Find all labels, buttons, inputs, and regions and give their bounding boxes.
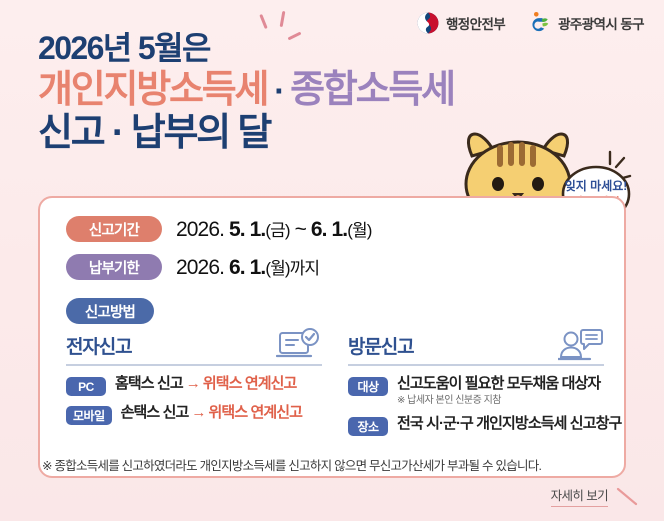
- title-line-2: 개인지방소득세 · 종합소득세: [38, 69, 454, 112]
- logo-mogaha-label: 행정안전부: [446, 13, 505, 33]
- due-prefix: 2026.: [176, 256, 229, 279]
- item-place-body: 전국 시·군·구 개인지방소득세 신고창구: [397, 415, 621, 433]
- item-target-body: 신고도움이 필요한 모두채움 대상자 ※ 납세자 본인 신분증 지참: [397, 375, 600, 407]
- tag-place: 장소: [348, 417, 388, 436]
- period-separator: ~: [290, 218, 311, 241]
- logo-mogaha: 행정안전부: [417, 12, 505, 34]
- sparkle-dash-2: [280, 11, 286, 27]
- footer-notice: ※ 종합소득세를 신고하였더라도 개인지방소득세를 신고하지 않으면 무신고가산…: [42, 455, 541, 474]
- diagonal-arrow-icon: [612, 485, 642, 507]
- row-payment-due: 납부기한 2026. 6. 1.(월)까지: [66, 254, 319, 280]
- arrow-icon-pc: →: [183, 375, 203, 392]
- value-payment-due: 2026. 6. 1.(월)까지: [176, 254, 319, 280]
- item-pc: PC 홈택스 신고→위택스 연계신고: [66, 375, 322, 396]
- row-filing-period: 신고기간 2026. 5. 1.(금) ~ 6. 1.(월): [66, 216, 372, 242]
- value-filing-period: 2026. 5. 1.(금) ~ 6. 1.(월): [176, 216, 372, 242]
- due-date: 6. 1.: [229, 256, 265, 279]
- laptop-check-icon: [276, 328, 322, 367]
- person-speech-icon: [558, 328, 604, 367]
- logo-donggu: 광주광역시 동구: [527, 11, 644, 35]
- item-target-note: ※ 납세자 본인 신분증 지참: [397, 395, 600, 407]
- page-title: 2026년 5월은 개인지방소득세 · 종합소득세 신고 · 납부의 달: [38, 32, 454, 155]
- tag-mobile: 모바일: [66, 406, 112, 425]
- period-start: 5. 1.: [229, 218, 265, 241]
- taegeuk-swirl-icon: [417, 12, 439, 34]
- item-place-text: 전국 시·군·구 개인지방소득세 신고창구: [397, 415, 621, 432]
- column-visit-filing: 방문신고 대상 신고도움이 필요한 모두채움 대상자 ※ 납세: [348, 332, 604, 444]
- due-day: (월): [265, 259, 289, 278]
- title-separator-dot: ·: [267, 72, 290, 109]
- label-payment-due: 납부기한: [66, 254, 162, 280]
- tag-pc: PC: [66, 377, 106, 396]
- period-prefix: 2026.: [176, 218, 229, 241]
- period-start-day: (금): [265, 221, 289, 240]
- title-line-1: 2026년 5월은: [38, 32, 454, 66]
- period-end: 6. 1.: [311, 218, 347, 241]
- item-target-text: 신고도움이 필요한 모두채움 대상자: [397, 375, 600, 392]
- column-electronic-filing: 전자신고 PC 홈택스 신고→위택스 연계신고: [66, 332, 322, 444]
- item-place: 장소 전국 시·군·구 개인지방소득세 신고창구: [348, 415, 604, 436]
- item-target: 대상 신고도움이 필요한 모두채움 대상자 ※ 납세자 본인 신분증 지참: [348, 375, 604, 407]
- item-pc-linked: 위택스 연계신고: [203, 375, 297, 392]
- label-filing-period: 신고기간: [66, 216, 162, 242]
- more-details-label: 자세히 보기: [551, 485, 608, 507]
- method-columns: 전자신고 PC 홈택스 신고→위택스 연계신고: [66, 332, 604, 444]
- title-tax-global: 종합소득세: [290, 69, 454, 111]
- item-mobile-body: 손택스 신고→위택스 연계신고: [121, 404, 302, 422]
- poster-root: 행정안전부 광주광역시 동구 2026년 5월은 개인지방소득세 · 종합소득세…: [0, 0, 664, 521]
- item-mobile-linked: 위택스 연계신고: [209, 404, 303, 421]
- logo-donggu-label: 광주광역시 동구: [558, 13, 644, 33]
- period-end-day: (월): [347, 221, 371, 240]
- due-suffix: 까지: [290, 259, 319, 278]
- bubble-line-1: 잊지 마세요!: [565, 178, 628, 193]
- item-pc-text: 홈택스 신고→위택스 연계신고: [115, 375, 296, 392]
- arrow-icon-mobile: →: [188, 404, 208, 421]
- label-filing-method: 신고방법: [66, 298, 154, 324]
- more-details-link[interactable]: 자세히 보기: [551, 485, 642, 507]
- title-line-3: 신고 · 납부의 달: [38, 112, 454, 155]
- title-tax-local: 개인지방소득세: [38, 69, 267, 111]
- gwangju-donggu-g-icon: [527, 11, 551, 35]
- info-card: 신고기간 2026. 5. 1.(금) ~ 6. 1.(월) 납부기한 2026…: [38, 196, 626, 478]
- item-pc-source: 홈택스 신고: [115, 375, 183, 392]
- item-mobile-source: 손택스 신고: [121, 404, 189, 421]
- sparkle-dash-1: [259, 14, 267, 29]
- item-mobile: 모바일 손택스 신고→위택스 연계신고: [66, 404, 322, 425]
- item-mobile-text: 손택스 신고→위택스 연계신고: [121, 404, 302, 421]
- tag-target: 대상: [348, 377, 388, 396]
- item-pc-body: 홈택스 신고→위택스 연계신고: [115, 375, 296, 393]
